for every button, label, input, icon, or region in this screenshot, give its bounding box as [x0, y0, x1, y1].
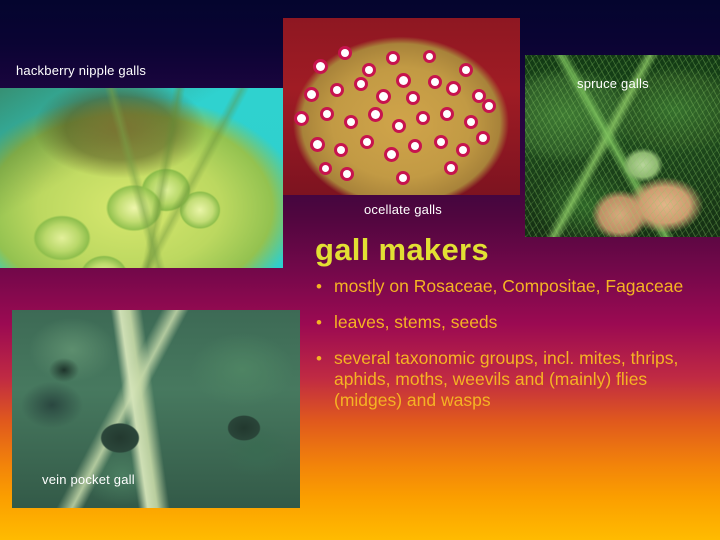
gall-spot: [322, 165, 329, 172]
bullet-text: leaves, stems, seeds: [334, 312, 696, 333]
caption-spruce-galls: spruce galls: [577, 76, 649, 91]
photo-ocellate-galls: [283, 18, 520, 195]
slide-canvas: hackberry nipple galls ocellate galls sp…: [0, 0, 720, 540]
ocellate-gall-spots: [283, 18, 520, 195]
gall-spot: [411, 142, 419, 150]
bullet-item: • leaves, stems, seeds: [316, 312, 696, 333]
gall-spot: [437, 138, 445, 146]
bullet-text: mostly on Rosaceae, Compositae, Fagaceae: [334, 276, 696, 297]
gall-spot: [447, 164, 455, 172]
caption-ocellate-galls: ocellate galls: [364, 202, 442, 217]
bullet-text: several taxonomic groups, incl. mites, t…: [334, 348, 696, 411]
bullet-list: • mostly on Rosaceae, Compositae, Fagace…: [316, 276, 696, 426]
bullet-item: • several taxonomic groups, incl. mites,…: [316, 348, 696, 411]
gall-spot: [459, 146, 467, 154]
gall-spot: [485, 102, 493, 110]
gall-spot: [337, 146, 345, 154]
slide-title: gall makers: [315, 232, 489, 268]
bullet-marker-icon: •: [316, 276, 334, 297]
gall-spot: [389, 54, 397, 62]
gall-spot: [313, 140, 322, 149]
bullet-marker-icon: •: [316, 348, 334, 411]
gall-spot: [371, 110, 380, 119]
photo-hackberry-nipple-galls: [0, 88, 283, 268]
gall-spot: [399, 174, 407, 182]
gall-spot: [399, 76, 408, 85]
gall-spot: [462, 66, 470, 74]
gall-spot: [365, 66, 373, 74]
caption-vein-pocket-gall: vein pocket gall: [42, 472, 135, 487]
gall-spot: [467, 118, 475, 126]
gall-spot: [431, 78, 439, 86]
gall-spot: [333, 86, 341, 94]
gall-spot: [307, 90, 316, 99]
gall-spot: [419, 114, 427, 122]
gall-spot: [316, 62, 325, 71]
gall-spot: [479, 134, 487, 142]
gall-spot: [343, 170, 351, 178]
bullet-item: • mostly on Rosaceae, Compositae, Fagace…: [316, 276, 696, 297]
bullet-marker-icon: •: [316, 312, 334, 333]
gall-spot: [323, 110, 331, 118]
gall-spot: [363, 138, 371, 146]
gall-spot: [449, 84, 458, 93]
gall-spot: [347, 118, 355, 126]
gall-spot: [443, 110, 451, 118]
gall-spot: [387, 150, 396, 159]
gall-spot: [426, 53, 433, 60]
gall-spot: [409, 94, 417, 102]
gall-spot: [395, 122, 403, 130]
gall-spot: [341, 49, 349, 57]
gall-spot: [297, 114, 306, 123]
gall-spot: [357, 80, 365, 88]
gall-spot: [379, 92, 388, 101]
caption-hackberry-nipple-galls: hackberry nipple galls: [16, 63, 146, 78]
gall-spot: [475, 92, 483, 100]
leaf-vein-texture: [0, 88, 283, 268]
